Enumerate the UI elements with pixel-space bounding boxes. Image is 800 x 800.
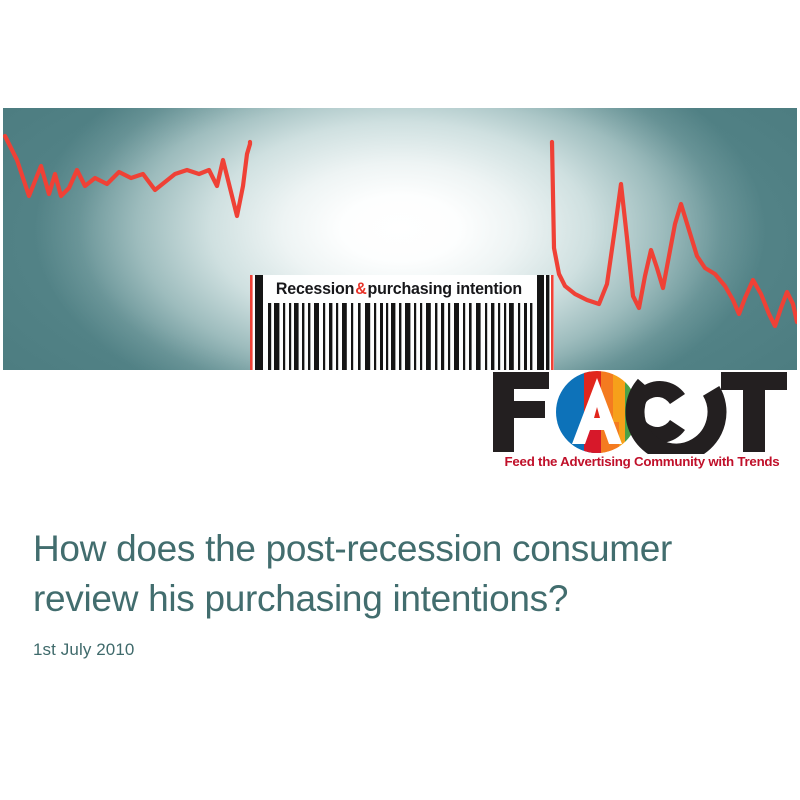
logo-letter-t — [721, 372, 787, 452]
slide-date: 1st July 2010 — [33, 640, 773, 660]
trend-line-left-segment — [5, 136, 250, 216]
fact-tagline: Feed the Advertising Community with Tren… — [495, 454, 789, 469]
barcode-label-ampersand: & — [354, 280, 367, 299]
barcode-label: Recession & purchasing intention — [267, 277, 531, 301]
title-block: How does the post-recession consumer rev… — [33, 524, 773, 660]
barcode-graphic: Recession & purchasing intention — [246, 275, 559, 370]
barcode-label-prefix: Recession — [276, 280, 354, 299]
barcode-guard-left — [250, 275, 253, 370]
trend-line-right-segment — [552, 142, 797, 326]
fact-logo: Feed the Advertising Community with Tren… — [489, 370, 789, 476]
logo-letter-c — [620, 370, 733, 454]
barcode-label-suffix: purchasing intention — [368, 280, 522, 299]
page-title: How does the post-recession consumer rev… — [33, 524, 773, 624]
barcode-guard-right — [551, 275, 554, 370]
logo-letter-f — [493, 372, 549, 452]
hero-banner: Recession & purchasing intention — [3, 108, 797, 370]
fact-wordmark — [489, 370, 789, 454]
presentation-slide: Recession & purchasing intention — [0, 0, 800, 800]
